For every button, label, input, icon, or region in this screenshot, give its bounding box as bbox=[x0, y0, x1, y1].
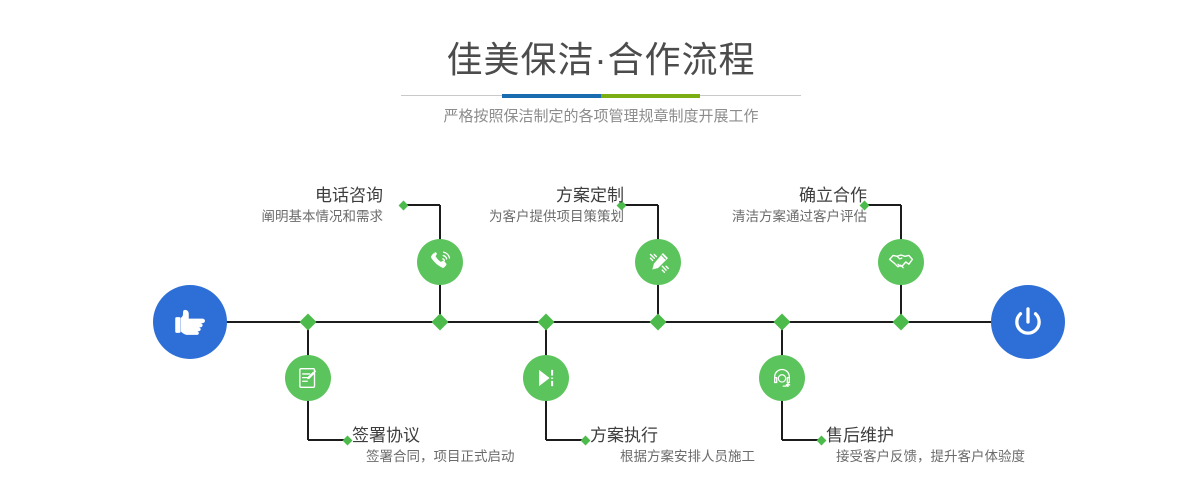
title-divider bbox=[401, 94, 801, 98]
axis-marker-step-1 bbox=[432, 314, 449, 331]
step-desc-2: 签署合同，项目正式启动 bbox=[352, 447, 515, 467]
step-title-2: 签署协议 bbox=[352, 425, 515, 447]
connector-horizontal-step-5 bbox=[865, 204, 901, 206]
process-flow-infographic: 佳美保洁·合作流程 严格按照保洁制定的各项管理规章制度开展工作 bbox=[0, 0, 1202, 502]
divider-segment-green bbox=[601, 94, 700, 98]
power-icon bbox=[1007, 301, 1049, 343]
document-edit-icon bbox=[295, 365, 321, 391]
step-desc-6: 接受客户反馈，提升客户体验度 bbox=[826, 447, 1025, 467]
step-label-4: 方案执行 根据方案安排人员施工 bbox=[590, 425, 755, 467]
step-node-2[interactable] bbox=[285, 355, 331, 401]
axis-marker-step-5 bbox=[893, 314, 910, 331]
headset-support-icon bbox=[769, 365, 795, 391]
connector-horizontal-step-3 bbox=[622, 204, 658, 206]
step-label-3: 方案定制 为客户提供项目策策划 bbox=[489, 185, 624, 227]
phone-call-icon bbox=[427, 249, 454, 276]
label-marker-step-2 bbox=[343, 435, 353, 445]
label-marker-step-1 bbox=[399, 200, 409, 210]
label-marker-step-6 bbox=[817, 435, 827, 445]
axis-marker-step-2 bbox=[300, 314, 317, 331]
divider-segment-blue bbox=[502, 94, 601, 98]
step-title-5: 确立合作 bbox=[732, 185, 867, 207]
step-label-5: 确立合作 清洁方案通过客户评估 bbox=[732, 185, 867, 227]
label-marker-step-4 bbox=[581, 435, 591, 445]
step-node-1[interactable] bbox=[417, 239, 463, 285]
connector-horizontal-step-6 bbox=[782, 439, 818, 441]
step-desc-1: 阐明基本情况和需求 bbox=[262, 207, 384, 227]
step-node-6[interactable] bbox=[759, 355, 805, 401]
pointing-hand-icon bbox=[169, 301, 211, 343]
step-label-6: 售后维护 接受客户反馈，提升客户体验度 bbox=[826, 425, 1025, 467]
step-node-5[interactable] bbox=[878, 239, 924, 285]
step-title-3: 方案定制 bbox=[489, 185, 624, 207]
step-desc-3: 为客户提供项目策策划 bbox=[489, 207, 624, 227]
axis-marker-step-3 bbox=[650, 314, 667, 331]
connector-horizontal-step-2 bbox=[308, 439, 344, 441]
timeline-start-node[interactable] bbox=[153, 285, 227, 359]
step-node-3[interactable] bbox=[635, 239, 681, 285]
page-subtitle: 严格按照保洁制定的各项管理规章制度开展工作 bbox=[0, 106, 1202, 128]
handshake-icon bbox=[887, 248, 915, 276]
step-desc-5: 清洁方案通过客户评估 bbox=[732, 207, 867, 227]
connector-horizontal-step-1 bbox=[404, 204, 440, 206]
connector-horizontal-step-4 bbox=[546, 439, 582, 441]
timeline-finish-node[interactable] bbox=[991, 285, 1065, 359]
step-title-6: 售后维护 bbox=[826, 425, 1025, 447]
step-label-1: 电话咨询 阐明基本情况和需求 bbox=[262, 185, 384, 227]
pencil-ruler-icon bbox=[645, 249, 672, 276]
step-label-2: 签署协议 签署合同，项目正式启动 bbox=[352, 425, 515, 467]
step-desc-4: 根据方案安排人员施工 bbox=[590, 447, 755, 467]
step-title-4: 方案执行 bbox=[590, 425, 755, 447]
page-title: 佳美保洁·合作流程 bbox=[0, 38, 1202, 82]
step-node-4[interactable] bbox=[523, 355, 569, 401]
axis-marker-step-6 bbox=[774, 314, 791, 331]
play-next-icon bbox=[533, 365, 559, 391]
step-title-1: 电话咨询 bbox=[262, 185, 384, 207]
axis-marker-step-4 bbox=[538, 314, 555, 331]
